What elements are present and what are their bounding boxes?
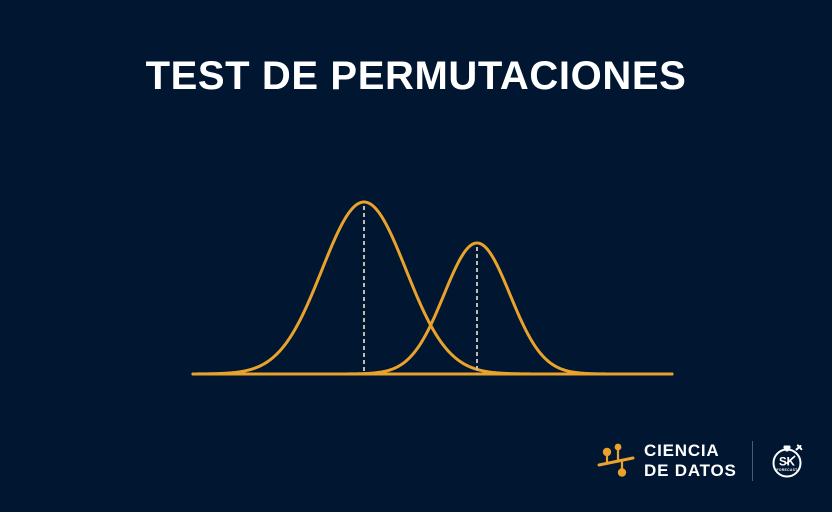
sk-stopwatch-logo-icon: SK FORECAST xyxy=(766,440,808,482)
distribution-curve-1 xyxy=(193,202,672,374)
brand-name-line-1: CIENCIA xyxy=(644,441,737,461)
brand-name: CIENCIA DE DATOS xyxy=(644,441,737,481)
balance-scatter-icon xyxy=(596,441,636,481)
brand-divider xyxy=(752,441,753,481)
brand-lockup: CIENCIA DE DATOS SK FORECAST xyxy=(596,434,808,488)
sk-badge-text: SK xyxy=(779,457,796,469)
distribution-curve-2 xyxy=(193,243,672,374)
sk-badge-subtext: FORECAST xyxy=(776,468,798,472)
brand-name-line-2: DE DATOS xyxy=(644,461,737,481)
slide-canvas: TEST DE PERMUTACIONES CIEN xyxy=(0,0,832,512)
